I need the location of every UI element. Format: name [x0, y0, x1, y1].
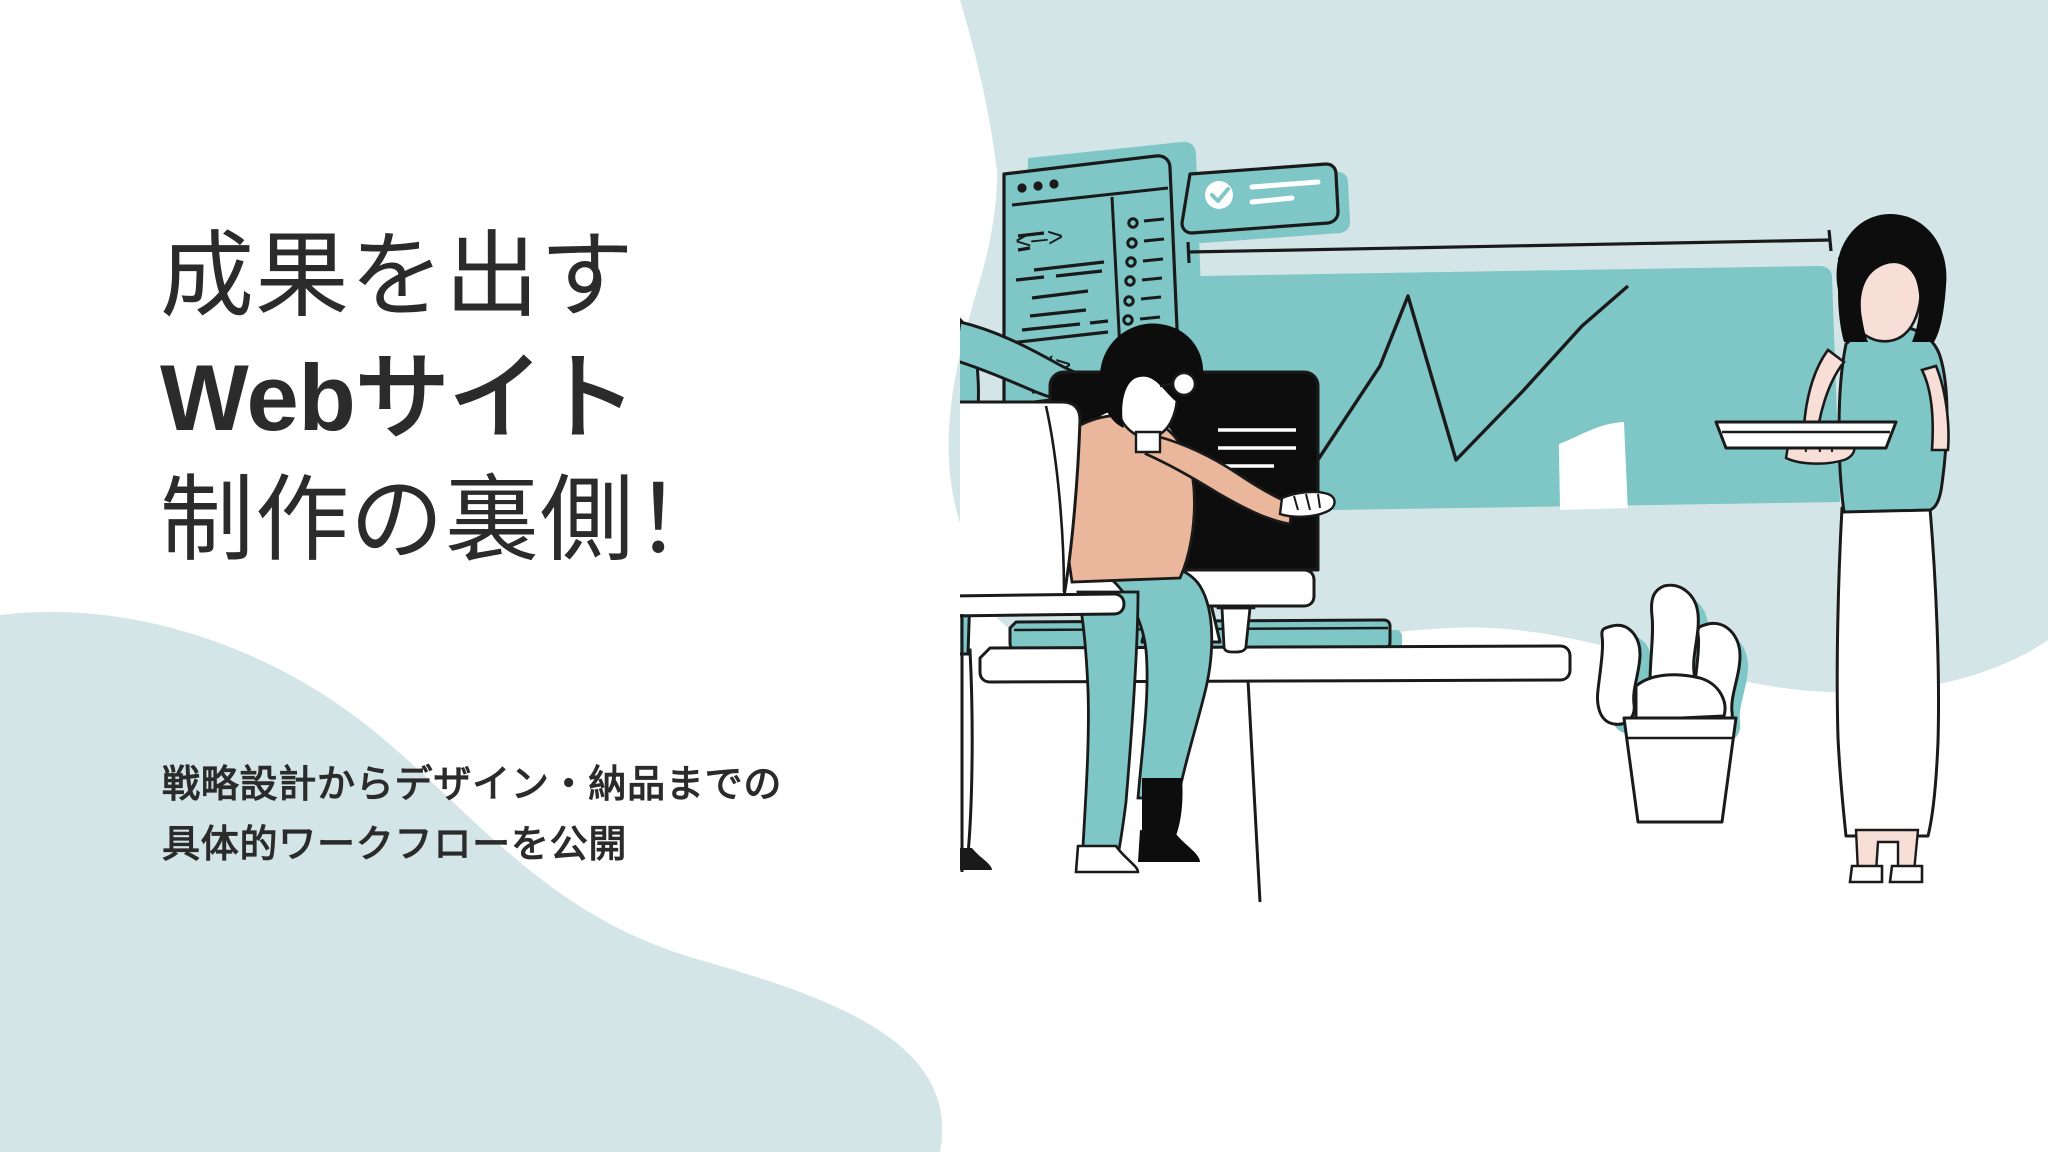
- headline-line-2: Webサイト: [160, 337, 1010, 459]
- notification-body: [1182, 164, 1338, 233]
- workplace-illustration: <—> <—/>: [960, 130, 2020, 950]
- cactus-arm-left: [1598, 625, 1640, 724]
- chair-seat: [960, 594, 1124, 616]
- subtitle-block: 戦略設計からデザイン・納品までの 具体的ワークフローを公開: [162, 755, 1022, 875]
- success-notification[interactable]: [1182, 164, 1350, 243]
- desk-with-keyboard: [980, 588, 1570, 902]
- hero-banner: 成果を出す Webサイト 制作の裏側！ 戦略設計からデザイン・納品までの 具体的…: [0, 0, 2048, 1152]
- window-dot-3: [1049, 179, 1058, 188]
- seated-neck: [1136, 432, 1160, 452]
- window-dot-1: [1017, 183, 1026, 192]
- check-circle-icon: [1205, 181, 1233, 209]
- code-tag-open: <—>: [1014, 224, 1065, 259]
- woman-shoe-right: [1890, 866, 1922, 882]
- woman-shoe-left: [1850, 866, 1882, 882]
- desk-top: [980, 646, 1570, 682]
- woman-top: [1839, 326, 1947, 512]
- seated-shoe-front: [1076, 846, 1138, 872]
- white-pot: [1624, 718, 1736, 822]
- seated-back: [1064, 415, 1194, 582]
- blob-bottom-left: [0, 612, 942, 1152]
- page-title: 成果を出す Webサイト 制作の裏側！: [160, 215, 1010, 582]
- seated-shoe: [1138, 830, 1200, 862]
- woman-skirt: [1837, 508, 1938, 836]
- seated-sock: [1142, 778, 1183, 840]
- headline-block: 成果を出す Webサイト 制作の裏側！: [160, 215, 1010, 582]
- seated-leg-front: [1078, 592, 1138, 866]
- headline-line-1: 成果を出す: [160, 215, 1010, 337]
- serving-tray[interactable]: [1716, 422, 1896, 448]
- subtitle-line-1: 戦略設計からデザイン・納品までの: [162, 755, 1022, 815]
- subtitle-line-2: 具体的ワークフローを公開: [162, 815, 1022, 875]
- window-dot-2: [1033, 181, 1042, 190]
- cactus-plant[interactable]: [1598, 585, 1748, 822]
- desk-leg: [1248, 680, 1260, 902]
- headline-line-3: 制作の裏側！: [160, 459, 1010, 581]
